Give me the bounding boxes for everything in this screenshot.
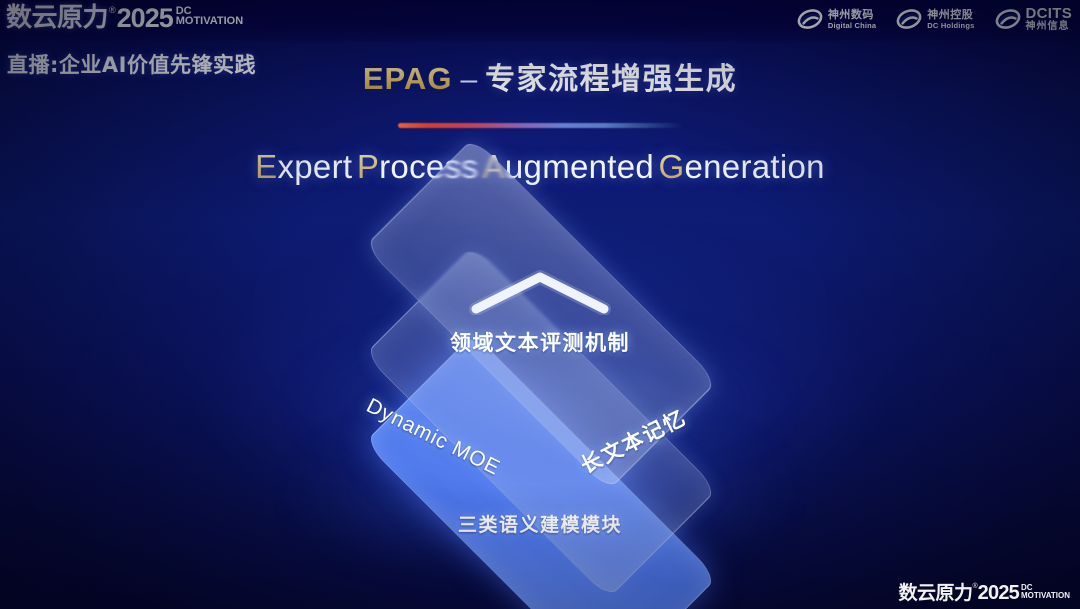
partner-cn-name: 神州数码 xyxy=(828,9,876,20)
brand-year: 2025 xyxy=(117,3,173,33)
dcits-swirl-icon xyxy=(995,8,1021,30)
presentation-slide: 数云原力 ® 2025 DC MOTIVATION 直播:企业AI价值先锋实践 … xyxy=(0,0,1080,609)
partner-logos: 神州数码 Digital China 神州控股 DC Holdings xyxy=(797,6,1072,32)
headline-rest-4: eneration xyxy=(685,148,825,185)
partner-cn-name: 神州信息 xyxy=(1026,22,1073,32)
headline-cap-4: G xyxy=(659,148,685,185)
brand-dc-line2: MOTIVATION xyxy=(176,16,243,27)
headline-cap-1: E xyxy=(255,148,277,185)
watermark-year: 2025 xyxy=(978,582,1019,604)
gradient-divider xyxy=(398,123,683,128)
digital-china-swirl-icon xyxy=(797,8,823,30)
title-chinese: 专家流程增强生成 xyxy=(485,62,737,97)
headline-cap-2: P xyxy=(357,148,379,185)
english-headline: Expert Process Augmented Generation xyxy=(0,148,1080,186)
title-dash: – xyxy=(460,63,477,96)
partner-logo-dcits: DCITS 神州信息 xyxy=(995,6,1073,32)
title-acronym: EPAG xyxy=(363,61,453,96)
partner-cn-name: 神州控股 xyxy=(927,9,974,20)
partner-en-name: Digital China xyxy=(828,22,876,30)
headline-word-4: Generation xyxy=(659,148,825,185)
layered-architecture-diagram: 领域文本评测机制 Dynamic MOE 长文本记忆 三类语义建模模块 xyxy=(265,222,815,572)
partner-logo-digital-china: 神州数码 Digital China xyxy=(797,8,876,30)
partner-text-digital-china: 神州数码 Digital China xyxy=(828,9,876,30)
headline-rest-3: ugmented xyxy=(505,148,654,185)
brand-name-cn: 数云原力 xyxy=(6,3,108,33)
partner-text-dc-holdings: 神州控股 DC Holdings xyxy=(927,9,974,30)
dc-holdings-swirl-icon xyxy=(896,8,922,30)
partner-en-name: DC Holdings xyxy=(927,22,974,30)
watermark-logo: 数云原力 ® 2025 DC MOTIVATION xyxy=(898,582,1070,604)
watermark-dc-line2: MOTIVATION xyxy=(1021,592,1070,600)
page-title: EPAG–专家流程增强生成 xyxy=(0,54,1080,98)
brand-dc-motivation: DC MOTIVATION xyxy=(176,3,243,27)
headline-word-1: Expert xyxy=(255,148,352,185)
watermark-name-cn: 数云原力 xyxy=(898,582,972,604)
headline-rest-1: xpert xyxy=(277,148,352,185)
watermark-dc-motivation: DC MOTIVATION xyxy=(1021,582,1070,600)
brand-registered-mark: ® xyxy=(109,3,116,17)
brand-logo: 数云原力 ® 2025 DC MOTIVATION xyxy=(6,3,243,33)
partner-logo-dc-holdings: 神州控股 DC Holdings xyxy=(896,8,974,30)
partner-en-name: DCITS xyxy=(1026,6,1073,21)
partner-text-dcits: DCITS 神州信息 xyxy=(1026,6,1073,32)
